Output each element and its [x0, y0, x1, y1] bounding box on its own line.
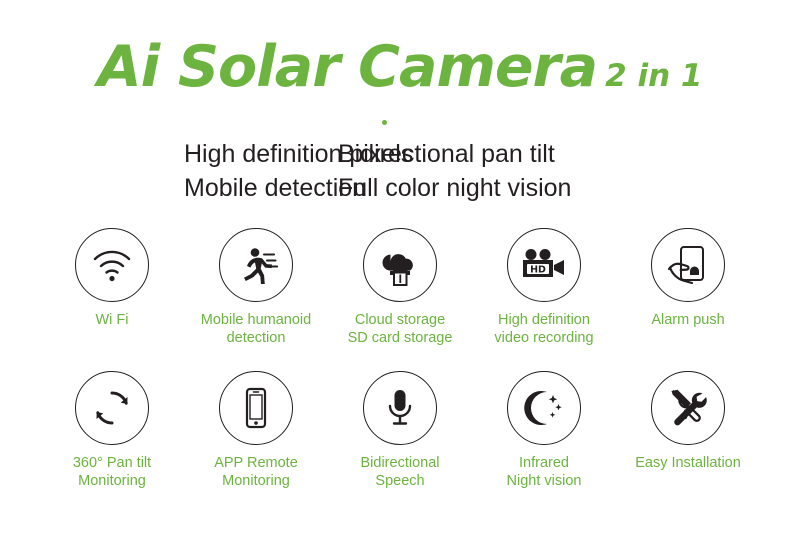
running-person-icon-circle — [219, 228, 293, 302]
cloud-sd-card-icon — [378, 244, 422, 286]
feature-caption: APP Remote Monitoring — [214, 454, 298, 490]
poster-page: Ai Solar Camera2 in 1 High definition pi… — [0, 0, 800, 533]
feature-caption: Bidirectional Speech — [361, 454, 440, 490]
feature-left-line-1: High definition pixels — [184, 138, 338, 172]
feature-item-cloud-sd-storage: Cloud storage SD card storage — [328, 228, 472, 347]
wifi-icon — [91, 247, 133, 283]
svg-text:HD: HD — [530, 264, 546, 275]
feature-right-line-2: Full color night vision — [338, 172, 738, 206]
feature-item-360-pan-tilt: 360° Pan tilt Monitoring — [40, 371, 184, 490]
title-main-text: Ai Solar Camera — [97, 34, 597, 100]
wifi-icon-circle — [75, 228, 149, 302]
cloud-sd-card-icon-circle — [363, 228, 437, 302]
tools-icon-circle — [651, 371, 725, 445]
feature-icon-grid: Wi Fi Mobile humanoid detection — [40, 228, 760, 491]
tools-icon — [667, 387, 709, 429]
title-sub-text: 2 in 1 — [605, 58, 702, 94]
feature-caption: Alarm push — [651, 311, 724, 329]
microphone-icon-circle — [363, 371, 437, 445]
feature-caption: Cloud storage SD card storage — [348, 311, 453, 347]
feature-item-humanoid-detection: Mobile humanoid detection — [184, 228, 328, 347]
feature-column-left: High definition pixels Mobile detection — [62, 138, 338, 206]
hand-phone-alarm-icon-circle — [651, 228, 725, 302]
separator-dot — [382, 120, 387, 125]
hd-video-camera-icon: HD — [520, 248, 568, 282]
feature-item-bidirectional-speech: Bidirectional Speech — [328, 371, 472, 490]
feature-item-wifi: Wi Fi — [40, 228, 184, 347]
smartphone-icon — [242, 387, 270, 429]
feature-column-right: Bidirectional pan tilt Full color night … — [338, 138, 738, 206]
feature-right-line-1: Bidirectional pan tilt — [338, 138, 738, 172]
moon-stars-icon-circle — [507, 371, 581, 445]
hand-phone-alarm-icon — [666, 245, 710, 285]
rotate-360-icon — [91, 387, 133, 429]
microphone-icon — [384, 387, 416, 429]
feature-left-line-2: Mobile detection — [184, 172, 338, 206]
smartphone-icon-circle — [219, 371, 293, 445]
hd-video-camera-icon-circle: HD — [507, 228, 581, 302]
feature-caption: Infrared Night vision — [507, 454, 582, 490]
feature-caption: Mobile humanoid detection — [201, 311, 311, 347]
moon-stars-icon — [523, 388, 565, 428]
feature-caption: High definition video recording — [494, 311, 593, 347]
feature-caption: Easy Installation — [635, 454, 741, 472]
feature-item-easy-installation: Easy Installation — [616, 371, 760, 490]
feature-item-infrared-night-vision: Infrared Night vision — [472, 371, 616, 490]
feature-item-hd-recording: HD High definition video recording — [472, 228, 616, 347]
feature-caption: 360° Pan tilt Monitoring — [73, 454, 151, 490]
rotate-360-icon-circle — [75, 371, 149, 445]
running-person-icon — [234, 246, 278, 284]
feature-item-app-remote: APP Remote Monitoring — [184, 371, 328, 490]
page-title: Ai Solar Camera2 in 1 — [0, 34, 800, 100]
feature-caption: Wi Fi — [95, 311, 128, 329]
feature-item-alarm-push: Alarm push — [616, 228, 760, 347]
feature-text-block: High definition pixels Mobile detection … — [0, 138, 800, 206]
